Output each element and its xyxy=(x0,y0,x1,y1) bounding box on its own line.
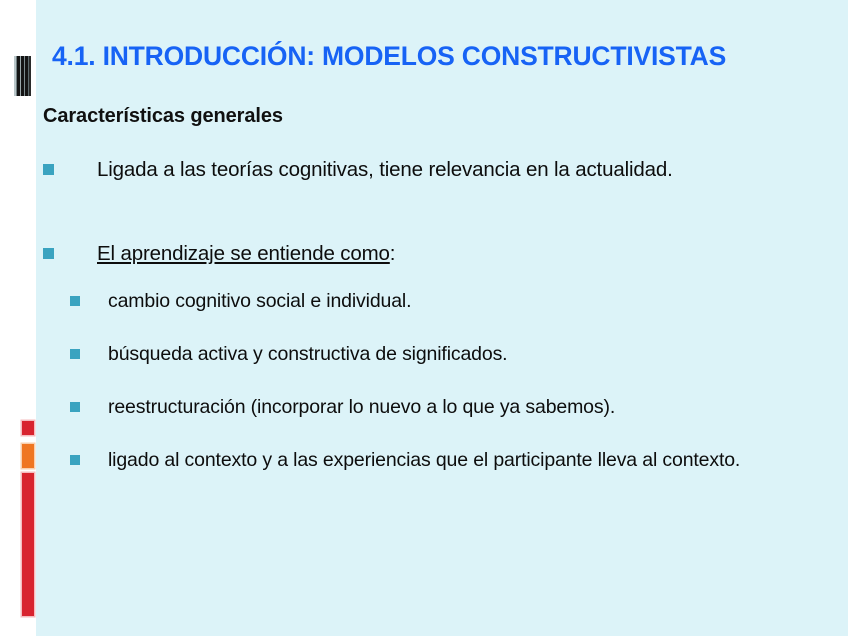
bullet-square-icon xyxy=(43,248,54,259)
bullet-item-level1: Ligada a las teorías cognitivas, tiene r… xyxy=(43,155,833,185)
slide-title: 4.1. INTRODUCCIÓN: MODELOS CONSTRUCTIVIS… xyxy=(52,42,832,71)
bullet-square-icon xyxy=(70,455,80,465)
bullet-text: búsqueda activa y constructiva de signif… xyxy=(108,341,840,369)
slide: 4.1. INTRODUCCIÓN: MODELOS CONSTRUCTIVIS… xyxy=(0,0,848,636)
bullet-text: cambio cognitivo social e individual. xyxy=(108,288,840,316)
bullet-text: El aprendizaje se entiende como: xyxy=(97,239,833,269)
striped-accent-bar-icon xyxy=(14,56,31,96)
bullet-square-icon xyxy=(70,296,80,306)
accent-strip-red-top xyxy=(22,421,34,435)
slide-content-panel xyxy=(36,0,848,636)
bullet-item-level2: búsqueda activa y constructiva de signif… xyxy=(70,341,840,369)
bullet-text: ligado al contexto y a las experiencias … xyxy=(108,447,840,475)
bullet-item-level1: El aprendizaje se entiende como: xyxy=(43,239,833,269)
slide-subtitle: Características generales xyxy=(43,105,283,128)
accent-strip-red-long xyxy=(22,473,34,616)
bullet-square-icon xyxy=(70,349,80,359)
bullet-text-tail: : xyxy=(390,242,396,265)
bullet-item-level2: ligado al contexto y a las experiencias … xyxy=(70,447,840,475)
accent-strip-orange xyxy=(22,444,34,468)
bullet-item-level2: reestructuración (incorporar lo nuevo a … xyxy=(70,394,840,422)
bullet-text: Ligada a las teorías cognitivas, tiene r… xyxy=(97,155,833,185)
bullet-square-icon xyxy=(70,402,80,412)
bullet-square-icon xyxy=(43,164,54,175)
bullet-item-level2: cambio cognitivo social e individual. xyxy=(70,288,840,316)
bullet-text: reestructuración (incorporar lo nuevo a … xyxy=(108,394,840,422)
bullet-text-underlined: El aprendizaje se entiende como xyxy=(97,242,390,265)
